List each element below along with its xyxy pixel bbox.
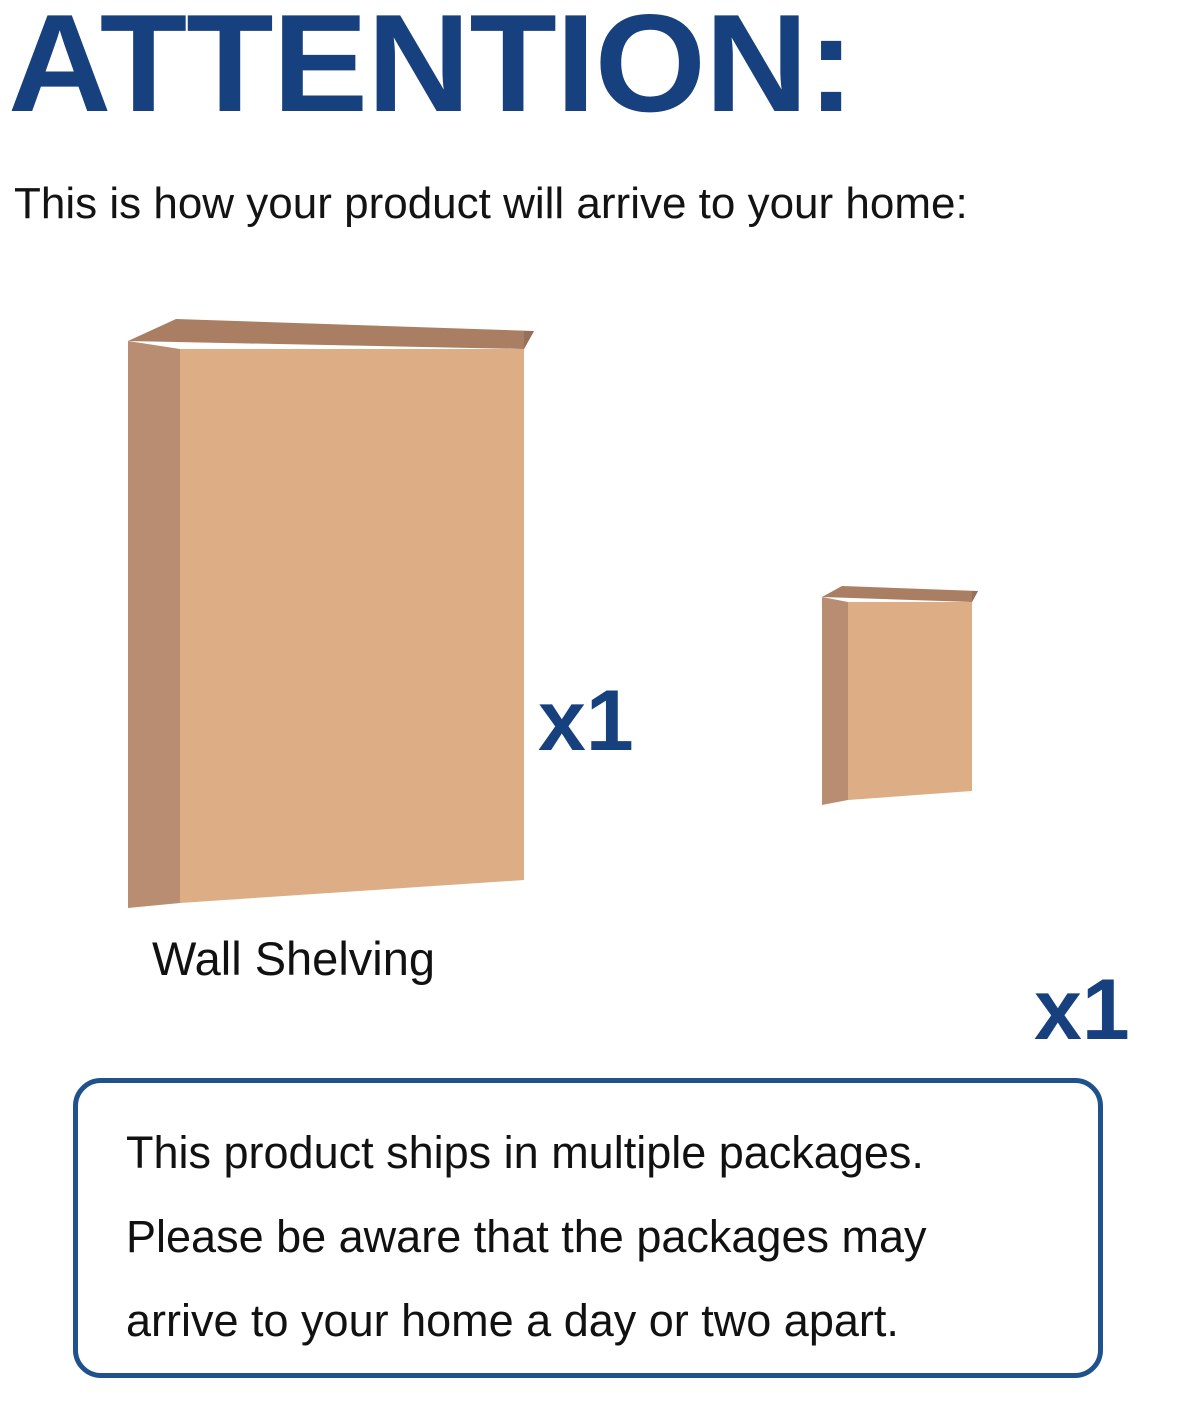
package-item-hook: x1 Hook	[796, 575, 996, 815]
notice-line-1: This product ships in multiple packages.	[126, 1111, 1068, 1195]
box-front-face	[848, 602, 972, 800]
box-corner-shadow	[524, 331, 534, 349]
shipping-notice-graphic: ATTENTION: This is how your product will…	[0, 0, 1179, 1403]
quantity-label-wall-shelving: x1	[538, 678, 634, 764]
box-corner-shadow	[972, 591, 978, 602]
notice-line-2: Please be aware that the packages may	[126, 1195, 1068, 1279]
package-item-wall-shelving: x1 Wall Shelving	[100, 305, 540, 915]
subtitle-text: This is how your product will arrive to …	[14, 182, 968, 226]
box-top-face	[128, 319, 534, 349]
quantity-label-hook: x1	[1034, 967, 1130, 1053]
cardboard-box-icon-large	[100, 305, 540, 915]
box-front-face	[180, 349, 524, 903]
box-top-face	[822, 586, 978, 602]
shipping-notice-callout: This product ships in multiple packages.…	[73, 1078, 1103, 1378]
notice-text-block: This product ships in multiple packages.…	[126, 1111, 1068, 1363]
attention-title: ATTENTION:	[8, 0, 854, 133]
cardboard-box-icon-small	[796, 575, 996, 815]
package-caption-wall-shelving: Wall Shelving	[152, 935, 435, 982]
box-left-panel	[822, 597, 848, 805]
notice-line-3: arrive to your home a day or two apart.	[126, 1279, 1068, 1363]
box-left-panel	[128, 341, 180, 908]
package-illustrations: x1 Wall Shelving x1 Hook	[0, 290, 1179, 1010]
